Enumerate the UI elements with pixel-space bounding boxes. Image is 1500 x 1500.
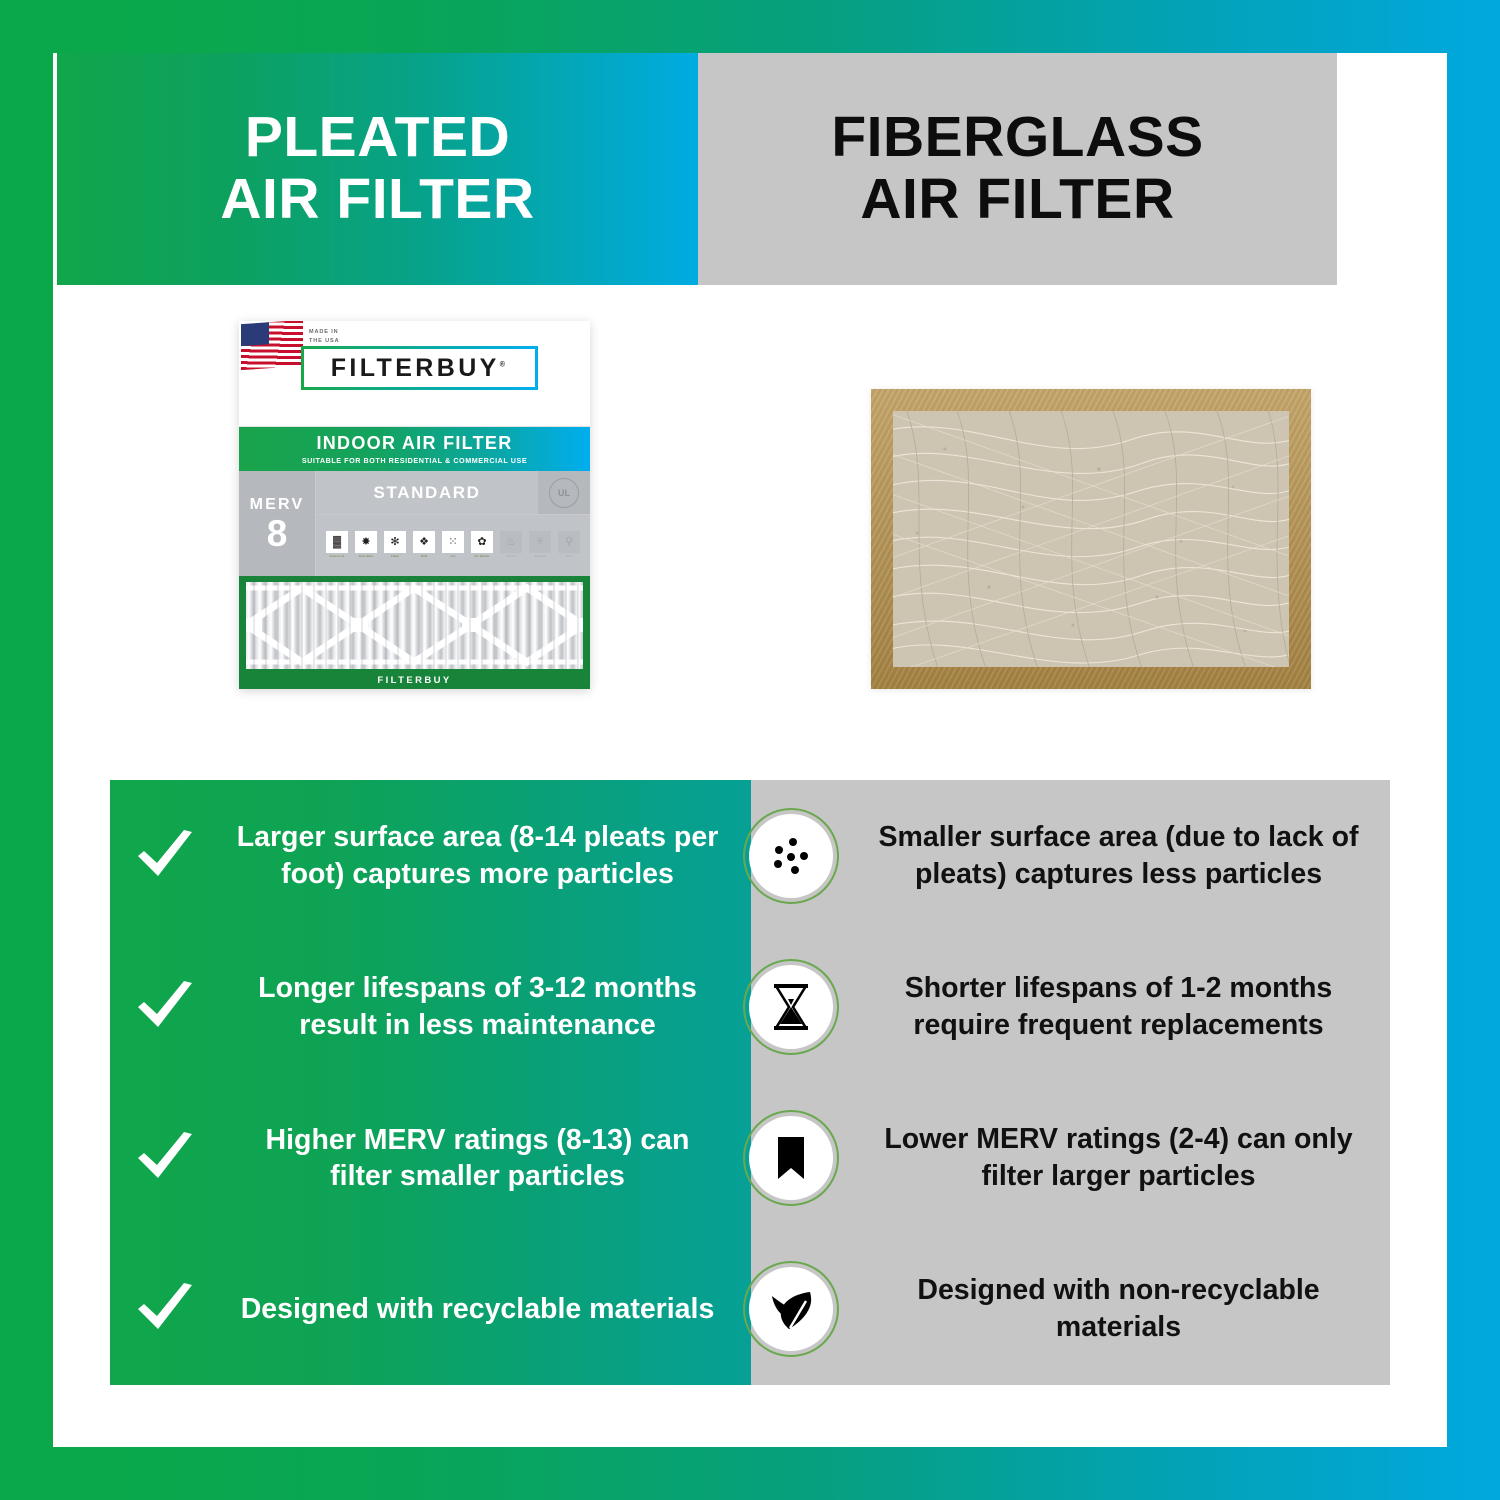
filter-bottom-brand: FILTERBUY	[239, 675, 590, 686]
particles-icon	[766, 831, 816, 881]
pleat-texture	[246, 582, 583, 669]
comparison-icon-slot	[735, 1261, 847, 1357]
mold-icon: ❖	[413, 531, 435, 553]
dust-mites-caption: Dust Mites	[359, 555, 373, 559]
comparison-row: Designed with recyclable materials Desig…	[110, 1234, 1390, 1385]
comparison-icon-slot	[735, 808, 847, 904]
virus-caption: Virus	[566, 555, 573, 559]
fiberglass-media-texture	[893, 411, 1289, 667]
capability-icon-dust-lint: ▓Dust & Lint	[324, 531, 350, 561]
icon-disc	[749, 814, 833, 898]
capability-icon-dust-mites: ✸Dust Mites	[353, 531, 379, 561]
capability-icon-pollen: ✻Pollen	[382, 531, 408, 561]
capability-icon-row: ▓Dust & Lint ✸Dust Mites ✻Pollen ❖Mold ⁙…	[316, 515, 590, 576]
comparison-rows: Larger surface area (8-14 pleats per foo…	[110, 780, 1390, 1385]
lint-icon: ⁙	[442, 531, 464, 553]
fiber-strands-icon	[893, 411, 1289, 667]
merv-spec-zone: MERV 8 STANDARD UL ▓Dust & Lint ✸Dust Mi…	[239, 471, 590, 576]
comparison-row: Larger surface area (8-14 pleats per foo…	[110, 780, 1390, 931]
smoke-icon: ♨	[500, 531, 522, 553]
dust-lint-icon: ▓	[326, 531, 348, 553]
trademark-mark: ®	[500, 361, 509, 368]
bacteria-icon: ⍟	[529, 531, 551, 553]
icon-disc	[749, 1116, 833, 1200]
icon-ring	[743, 959, 839, 1055]
capability-icon-virus: ⚲Virus	[556, 531, 582, 561]
header-right-fiberglass: FIBERGLASS AIR FILTER	[698, 53, 1337, 285]
fiberglass-filter-image	[871, 389, 1311, 689]
product-image-row: MADE IN THE USA FILTERBUY® INDOOR AIR FI…	[57, 285, 1337, 725]
fiberglass-title: FIBERGLASS AIR FILTER	[831, 107, 1203, 230]
checkmark-slot	[110, 1132, 220, 1184]
merv-block: MERV 8	[239, 471, 316, 576]
pleated-title: PLEATED AIR FILTER	[220, 107, 534, 230]
hourglass-icon	[766, 982, 816, 1032]
pet-dander-caption: Pet Dander	[474, 555, 489, 559]
checkmark-slot	[110, 1283, 220, 1335]
capability-icon-smoke: ♨Smoke	[498, 531, 524, 561]
pollen-caption: Pollen	[391, 555, 399, 559]
icon-ring	[743, 1110, 839, 1206]
merv-value: 8	[267, 515, 288, 552]
checkmark-slot	[110, 981, 220, 1033]
ul-cert-slot: UL	[538, 471, 590, 514]
comparison-left-text: Designed with recyclable materials	[220, 1291, 735, 1327]
fiberglass-title-line2: AIR FILTER	[831, 169, 1203, 231]
comparison-left-text: Higher MERV ratings (8-13) can filter sm…	[220, 1122, 735, 1195]
check-icon	[134, 1283, 196, 1335]
smoke-caption: Smoke	[506, 555, 515, 559]
grade-label: STANDARD	[316, 471, 538, 514]
checkmark-slot	[110, 830, 220, 882]
made-in-usa-label: MADE IN THE USA	[309, 328, 339, 346]
dust-mites-icon: ✸	[355, 531, 377, 553]
filterbuy-box-header: MADE IN THE USA FILTERBUY®	[239, 321, 590, 427]
comparison-left-text: Longer lifespans of 3-12 months result i…	[220, 970, 735, 1043]
capability-icon-bacteria: ⍟Bacteria	[527, 531, 553, 561]
band-sub-label: SUITABLE FOR BOTH RESIDENTIAL & COMMERCI…	[302, 456, 527, 465]
band-main-label: INDOOR AIR FILTER	[316, 433, 512, 454]
comparison-icon-slot	[735, 1110, 847, 1206]
comparison-right-text: Lower MERV ratings (2-4) can only filter…	[847, 1121, 1390, 1195]
ul-certification-icon: UL	[549, 478, 579, 508]
capability-icon-lint: ⁙Lint	[440, 531, 466, 561]
comparison-icon-slot	[735, 959, 847, 1055]
bookmark-icon	[766, 1133, 816, 1183]
made-in-line2: THE USA	[309, 337, 339, 346]
icon-disc	[749, 965, 833, 1049]
merv-label: MERV	[250, 496, 305, 514]
pleated-title-line1: PLEATED	[220, 107, 534, 169]
capability-icon-pet-dander: ✿Pet Dander	[469, 531, 495, 561]
dust-lint-caption: Dust & Lint	[330, 555, 345, 559]
comparison-left-text: Larger surface area (8-14 pleats per foo…	[220, 819, 735, 892]
pleated-title-line2: AIR FILTER	[220, 169, 534, 231]
comparison-right-text: Smaller surface area (due to lack of ple…	[847, 819, 1390, 893]
icon-disc	[749, 1267, 833, 1351]
lint-caption: Lint	[451, 555, 456, 559]
virus-icon: ⚲	[558, 531, 580, 553]
leaves-icon	[766, 1284, 816, 1334]
merv-right-zone: STANDARD UL ▓Dust & Lint ✸Dust Mites ✻Po…	[316, 471, 590, 576]
pet-dander-icon: ✿	[471, 531, 493, 553]
comparison-row: Higher MERV ratings (8-13) can filter sm…	[110, 1083, 1390, 1234]
filterbuy-product-box: MADE IN THE USA FILTERBUY® INDOOR AIR FI…	[239, 321, 590, 689]
header-band: PLEATED AIR FILTER FIBERGLASS AIR FILTER	[57, 53, 1337, 285]
usa-flag-icon	[241, 321, 303, 370]
filterbuy-logo-frame: FILTERBUY®	[301, 346, 538, 390]
poster-root: PLEATED AIR FILTER FIBERGLASS AIR FILTER…	[0, 0, 1500, 1500]
check-icon	[134, 1132, 196, 1184]
filterbuy-wordmark: FILTERBUY	[331, 354, 500, 382]
mold-caption: Mold	[421, 555, 428, 559]
icon-ring	[743, 808, 839, 904]
filterbuy-logo-text: FILTERBUY®	[331, 354, 509, 383]
comparison-right-text: Shorter lifespans of 1-2 months require …	[847, 970, 1390, 1044]
capability-icon-mold: ❖Mold	[411, 531, 437, 561]
pleated-filter-media: FILTERBUY	[239, 576, 590, 689]
indoor-air-filter-band: INDOOR AIR FILTER SUITABLE FOR BOTH RESI…	[239, 427, 590, 471]
fiberglass-title-line1: FIBERGLASS	[831, 107, 1203, 169]
pollen-icon: ✻	[384, 531, 406, 553]
comparison-right-text: Designed with non-recyclable materials	[847, 1272, 1390, 1346]
made-in-line1: MADE IN	[309, 328, 339, 337]
comparison-table: Larger surface area (8-14 pleats per foo…	[110, 780, 1390, 1385]
bacteria-caption: Bacteria	[534, 555, 545, 559]
wire-mesh-icon	[246, 582, 583, 669]
icon-ring	[743, 1261, 839, 1357]
header-left-pleated: PLEATED AIR FILTER	[57, 53, 698, 285]
standard-row: STANDARD UL	[316, 471, 590, 515]
comparison-row: Longer lifespans of 3-12 months result i…	[110, 931, 1390, 1082]
check-icon	[134, 981, 196, 1033]
check-icon	[134, 830, 196, 882]
